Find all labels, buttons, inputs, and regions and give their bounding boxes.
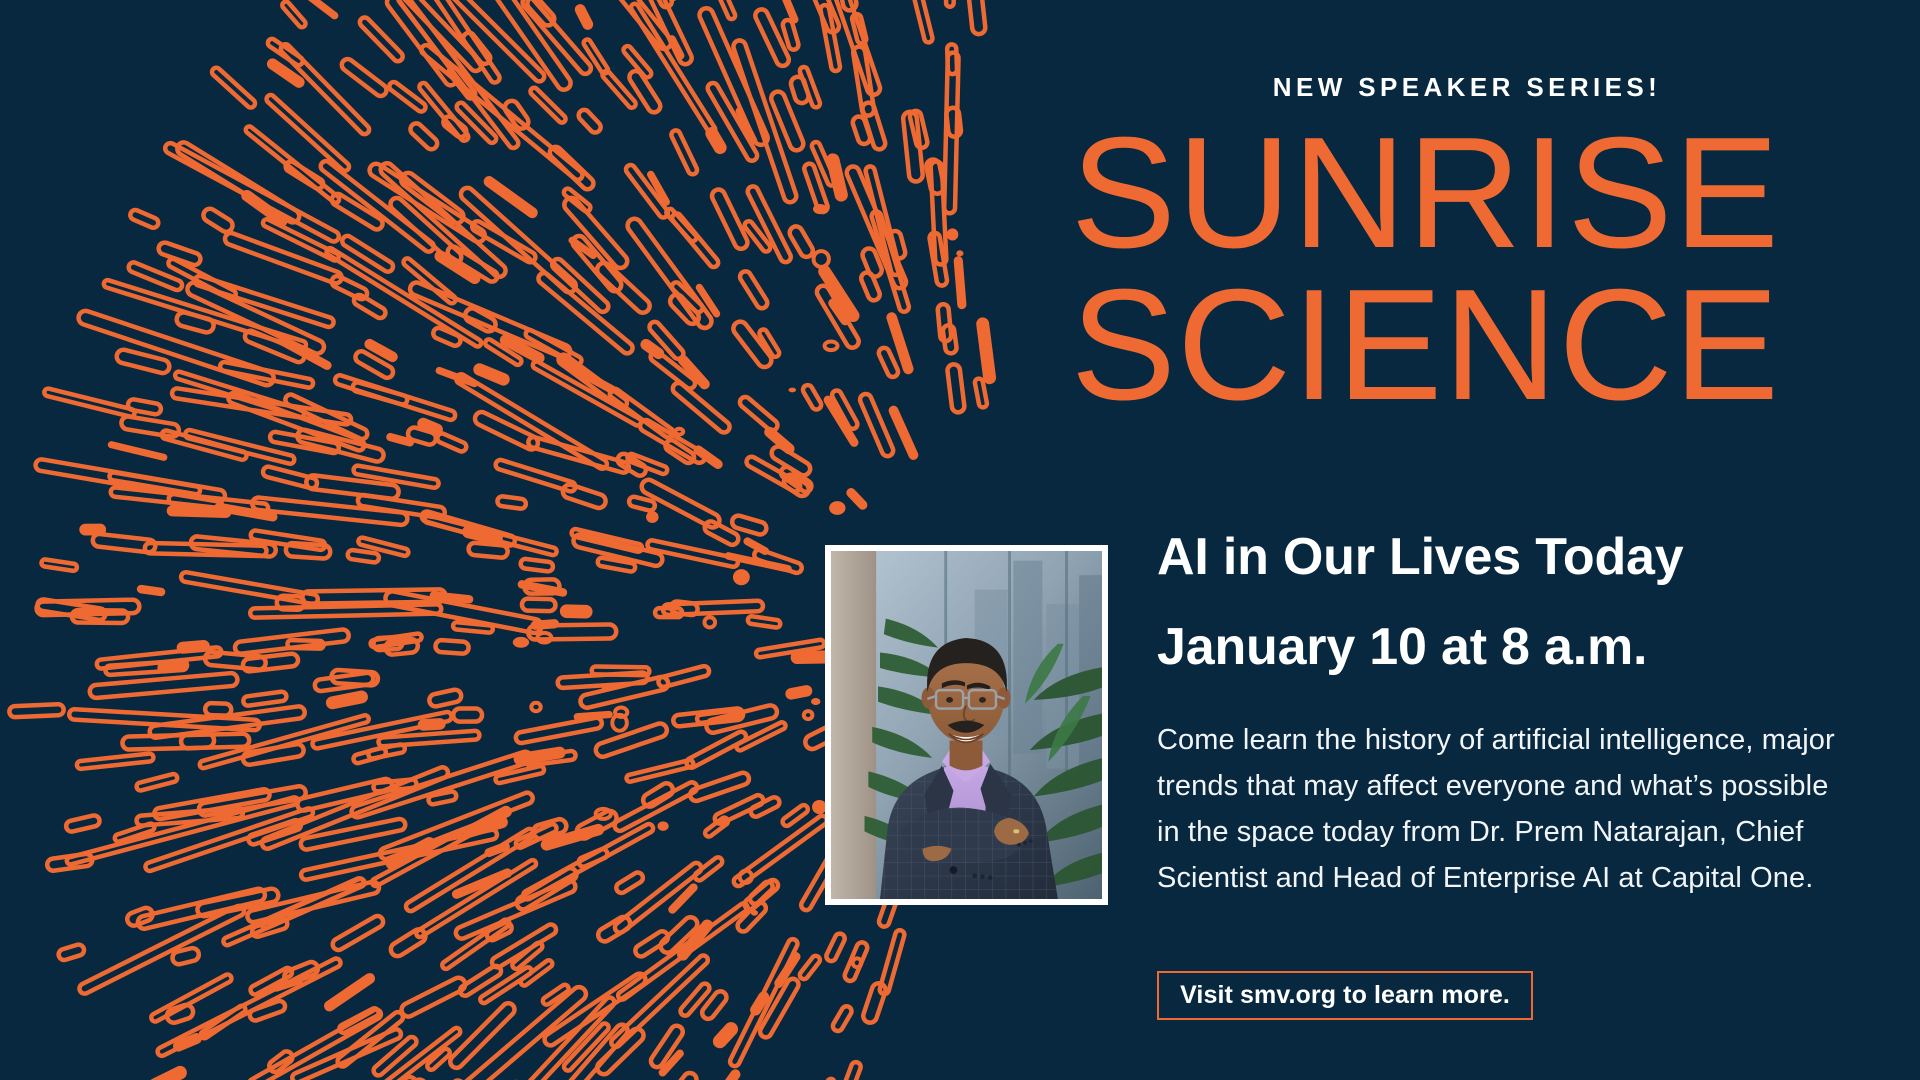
series-title-line-2: SCIENCE xyxy=(960,270,1780,422)
sunburst-decoration xyxy=(0,0,1100,1080)
event-description: Come learn the history of artificial int… xyxy=(1157,717,1837,901)
event-description-line: trends that may affect everyone and what… xyxy=(1157,763,1837,809)
event-title: AI in Our Lives Today xyxy=(1157,527,1684,587)
kicker-text: NEW SPEAKER SERIES! xyxy=(1157,72,1777,103)
speaker-portrait-photo xyxy=(831,551,1102,899)
series-title: SUNRISE SCIENCE xyxy=(960,118,1780,421)
event-description-line: in the space today from Dr. Prem Nataraj… xyxy=(1157,809,1837,855)
visit-website-button[interactable]: Visit smv.org to learn more. xyxy=(1157,971,1533,1020)
event-description-line: Scientist and Head of Enterprise AI at C… xyxy=(1157,855,1837,901)
speaker-portrait-frame xyxy=(825,545,1108,905)
event-description-line: Come learn the history of artificial int… xyxy=(1157,717,1837,763)
event-date: January 10 at 8 a.m. xyxy=(1157,617,1647,677)
series-title-line-1: SUNRISE xyxy=(960,118,1780,270)
promotional-poster: NEW SPEAKER SERIES! SUNRISE SCIENCE AI i… xyxy=(0,0,1920,1080)
